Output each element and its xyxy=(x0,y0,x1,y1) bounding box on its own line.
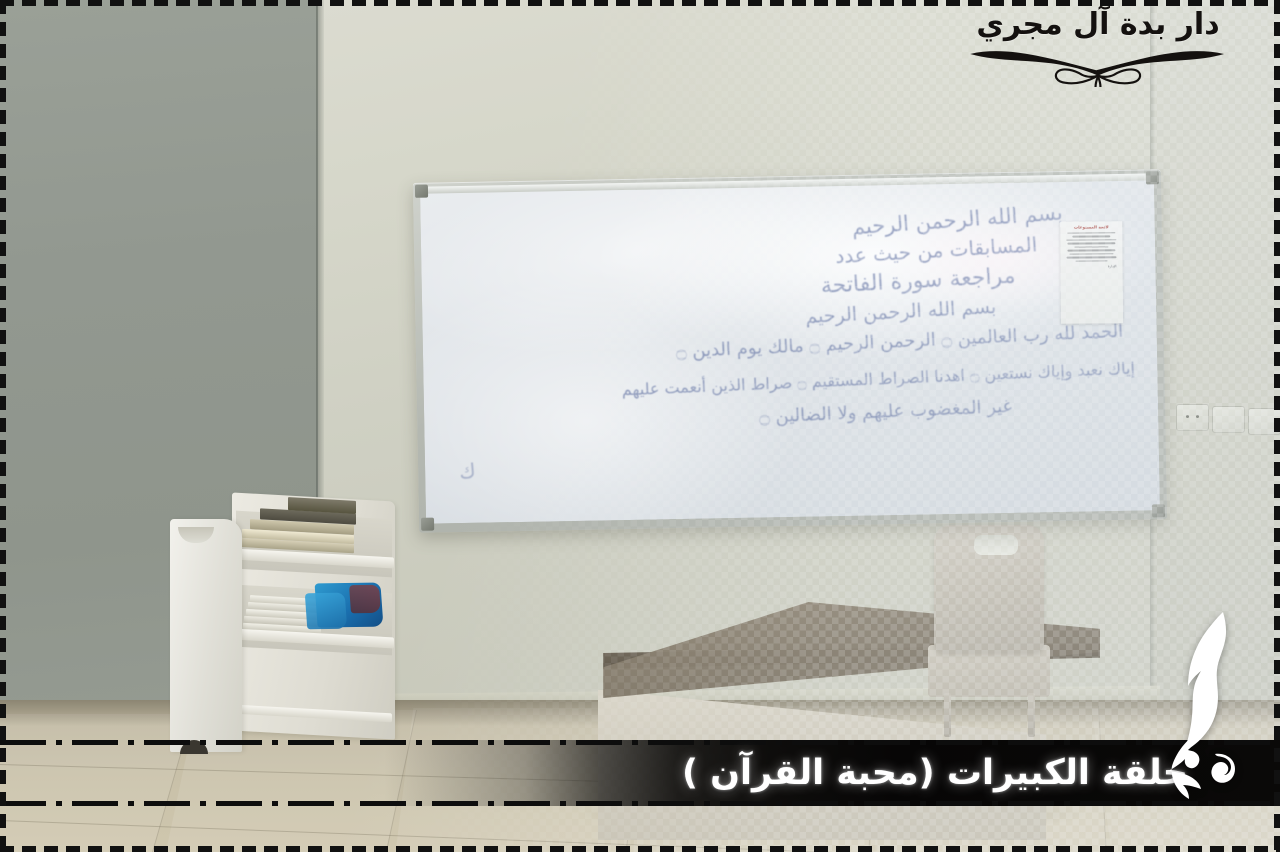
socket-hole-icon xyxy=(1186,415,1189,418)
whiteboard-corner-bracket xyxy=(1146,171,1159,184)
caption-title: حلقة الكبيرات (محبة القرآن ) xyxy=(682,753,1188,793)
cloth-accent xyxy=(349,585,381,613)
chair-handle-hole xyxy=(974,535,1018,555)
socket-hole-icon xyxy=(1196,415,1199,418)
poster-canvas: بسم الله الرحمن الرحيم المسابقات من حيث … xyxy=(0,0,1280,852)
whiteboard-corner-bracket xyxy=(421,518,434,531)
wall-socket xyxy=(1212,406,1245,433)
board-handwriting-line: إياك نعبد وإياك نستعين ۝ اهدنا الصراط ال… xyxy=(622,358,1136,399)
notice-title: لائحة المستوعات xyxy=(1064,224,1118,229)
right-wall-panel xyxy=(1152,0,1280,742)
chair-leg xyxy=(1028,693,1035,737)
bookshelf-side-panel xyxy=(170,519,242,752)
caption-dashed-rule xyxy=(0,740,1280,745)
whiteboard-surface: بسم الله الرحمن الرحيم المسابقات من حيث … xyxy=(420,178,1160,523)
whiteboard-corner-bracket xyxy=(1152,504,1165,517)
caption-dashed-rule xyxy=(0,801,1280,806)
blue-cloth xyxy=(305,593,347,630)
plastic-chair xyxy=(928,525,1050,730)
caption-banner: حلقة الكبيرات (محبة القرآن ) xyxy=(0,740,1280,806)
board-handwriting-mark: ك xyxy=(458,458,477,483)
posted-notice: لائحة المستوعات الإدارة xyxy=(1060,221,1123,323)
wall-socket xyxy=(1176,404,1209,431)
whiteboard: بسم الله الرحمن الرحيم المسابقات من حيث … xyxy=(413,169,1167,533)
white-bookshelf xyxy=(170,497,395,752)
chair-backrest xyxy=(934,525,1044,653)
chair-leg xyxy=(944,693,951,737)
bookshelf-handle-notch xyxy=(178,527,214,543)
board-handwriting-line: غير المغضوب عليهم ولا الضالين ۝ xyxy=(759,396,1013,428)
wall-socket xyxy=(1248,408,1280,435)
notice-footer: الإدارة xyxy=(1065,265,1117,269)
classroom-photo: بسم الله الرحمن الرحيم المسابقات من حيث … xyxy=(0,0,1280,852)
whiteboard-corner-bracket xyxy=(415,185,428,198)
